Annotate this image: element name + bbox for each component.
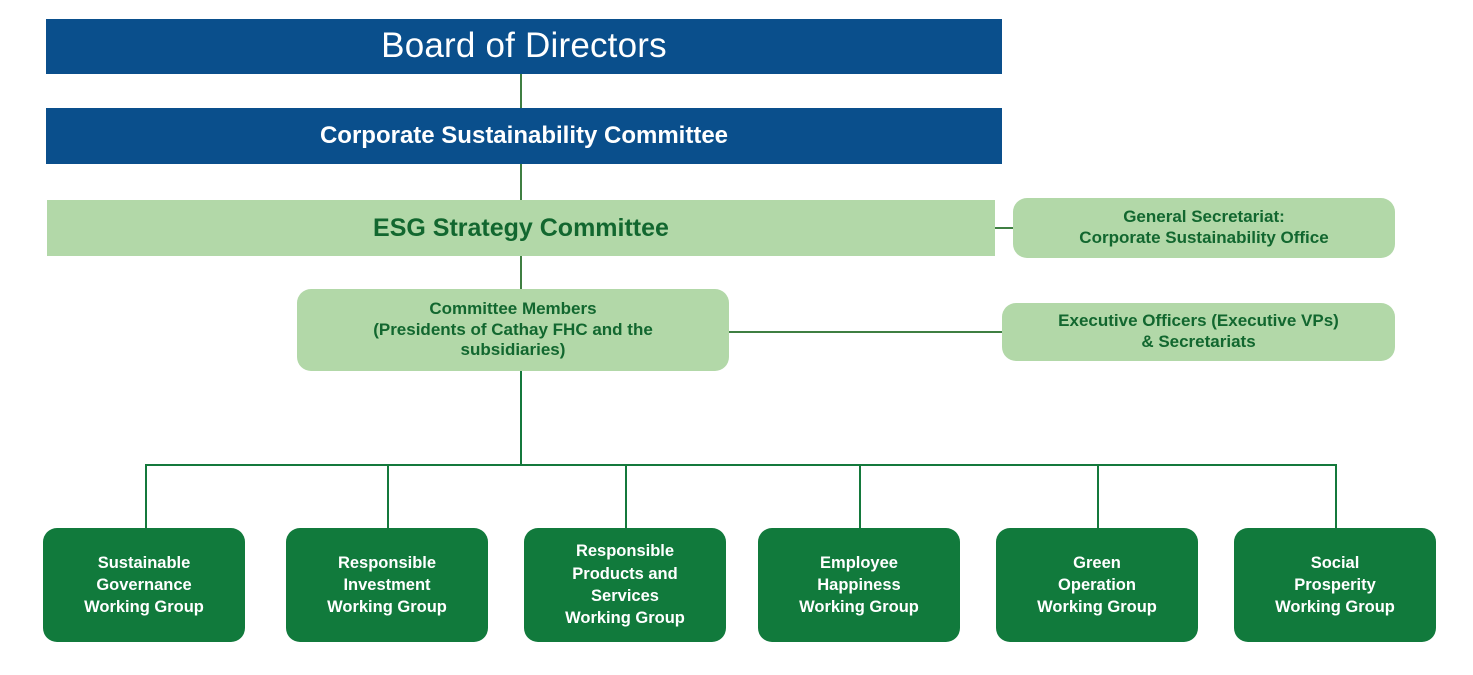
node-working-group-label: Sustainable Governance Working Group [84,552,204,619]
connector-bus-to-working-group-4 [859,464,861,528]
node-working-group-label: Employee Happiness Working Group [799,552,919,619]
org-chart: Board of Directors Corporate Sustainabil… [0,0,1473,675]
node-general-secretariat[interactable]: General Secretariat: Corporate Sustainab… [1013,198,1395,258]
node-working-group-label: Responsible Investment Working Group [327,552,447,619]
node-esg-strategy-committee-label: ESG Strategy Committee [373,213,669,244]
connector-bus-to-working-group-6 [1335,464,1337,528]
node-executive-officers[interactable]: Executive Officers (Executive VPs) & Sec… [1002,303,1395,361]
node-working-group-label: Social Prosperity Working Group [1275,552,1395,619]
node-working-group-label: Green Operation Working Group [1037,552,1157,619]
connector-board-to-sustainability-committee [520,73,522,108]
node-working-group-responsible-investment[interactable]: Responsible Investment Working Group [286,528,488,642]
node-working-group-green-operation[interactable]: Green Operation Working Group [996,528,1198,642]
node-executive-officers-label: Executive Officers (Executive VPs) & Sec… [1058,311,1339,352]
connector-committee-members-to-executive-officers [728,331,1003,333]
connector-bus-to-working-group-5 [1097,464,1099,528]
connector-sustainability-committee-to-esg [520,163,522,200]
node-board-of-directors[interactable]: Board of Directors [46,19,1002,74]
node-working-group-responsible-products-and-services[interactable]: Responsible Products and Services Workin… [524,528,726,642]
node-corporate-sustainability-committee-label: Corporate Sustainability Committee [320,121,728,150]
node-working-group-social-prosperity[interactable]: Social Prosperity Working Group [1234,528,1436,642]
node-general-secretariat-label: General Secretariat: Corporate Sustainab… [1079,207,1328,248]
connector-esg-to-committee-members [520,256,522,289]
connector-bus-to-working-group-1 [145,464,147,528]
node-working-group-label: Responsible Products and Services Workin… [565,540,685,629]
connector-committee-members-to-bus [520,371,522,466]
node-committee-members-label: Committee Members (Presidents of Cathay … [373,299,653,361]
working-group-bus-bar [145,464,1337,466]
node-esg-strategy-committee[interactable]: ESG Strategy Committee [47,200,995,256]
connector-bus-to-working-group-2 [387,464,389,528]
node-committee-members[interactable]: Committee Members (Presidents of Cathay … [297,289,729,371]
node-working-group-employee-happiness[interactable]: Employee Happiness Working Group [758,528,960,642]
node-board-of-directors-label: Board of Directors [381,25,667,68]
node-working-group-sustainable-governance[interactable]: Sustainable Governance Working Group [43,528,245,642]
node-corporate-sustainability-committee[interactable]: Corporate Sustainability Committee [46,108,1002,164]
connector-bus-to-working-group-3 [625,464,627,528]
